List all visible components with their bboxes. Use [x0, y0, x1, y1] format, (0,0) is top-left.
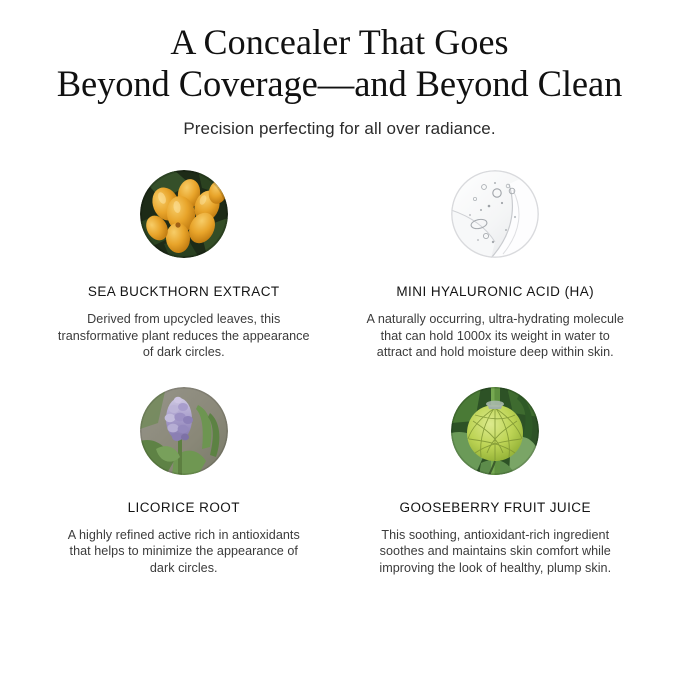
ingredient-card-hyaluronic-acid: MINI HYALURONIC ACID (HA) A naturally oc…: [340, 170, 652, 361]
ingredient-card-gooseberry: GOOSEBERRY FRUIT JUICE This soothing, an…: [340, 387, 652, 577]
licorice-root-flower-photo-icon: [140, 387, 228, 475]
ingredient-description: A naturally occurring, ultra-hydrating m…: [366, 311, 624, 361]
ingredient-title: SEA BUCKTHORN EXTRACT: [88, 284, 280, 300]
headline-line-1: A Concealer That Goes: [14, 22, 665, 63]
ingredient-title: MINI HYALURONIC ACID (HA): [396, 284, 594, 300]
ingredient-description: A highly refined active rich in antioxid…: [58, 527, 310, 577]
ingredient-title: GOOSEBERRY FRUIT JUICE: [400, 500, 591, 516]
hyaluronic-acid-gel-photo-icon: [451, 170, 539, 258]
ingredients-grid: SEA BUCKTHORN EXTRACT Derived from upcyc…: [0, 170, 679, 576]
page-title: A Concealer That Goes Beyond Coverage—an…: [0, 22, 679, 104]
gooseberry-husk-fruit-photo-icon: [451, 387, 539, 475]
ingredient-card-sea-buckthorn: SEA BUCKTHORN EXTRACT Derived from upcyc…: [28, 170, 340, 361]
ingredient-description: Derived from upcycled leaves, this trans…: [58, 311, 310, 361]
header: A Concealer That Goes Beyond Coverage—an…: [0, 0, 679, 140]
ingredient-benefits-panel: A Concealer That Goes Beyond Coverage—an…: [0, 0, 679, 679]
page-subtitle: Precision perfecting for all over radian…: [0, 118, 679, 140]
sea-buckthorn-berries-photo-icon: [140, 170, 228, 258]
headline-line-2: Beyond Coverage—and Beyond Clean: [14, 63, 665, 104]
ingredient-title: LICORICE ROOT: [128, 500, 240, 516]
ingredient-description: This soothing, antioxidant-rich ingredie…: [366, 527, 624, 577]
ingredient-card-licorice-root: LICORICE ROOT A highly refined active ri…: [28, 387, 340, 577]
